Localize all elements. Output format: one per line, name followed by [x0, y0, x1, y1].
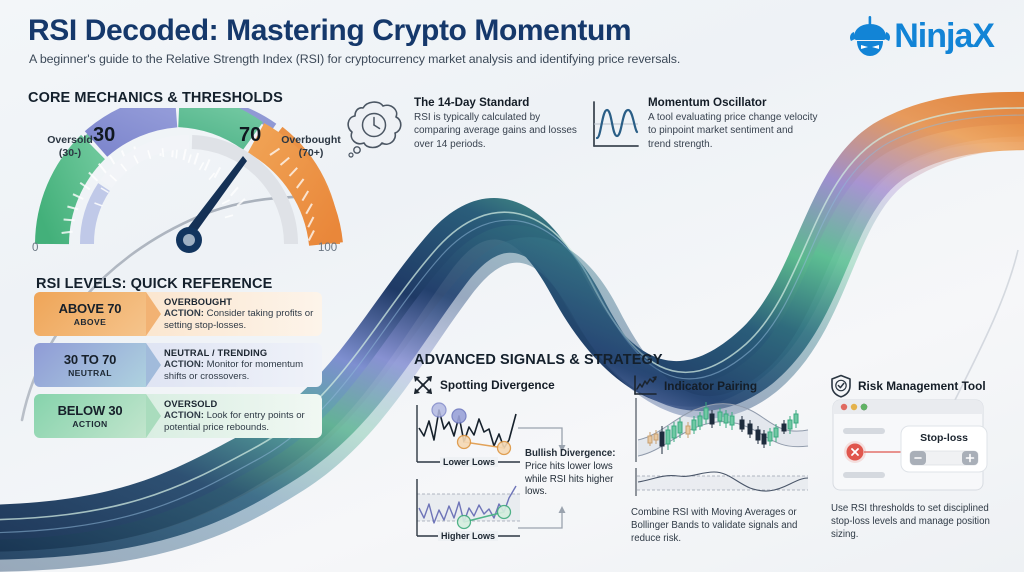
- feature-title-14-day: The 14-Day Standard: [414, 96, 579, 109]
- gauge-label-overbought: Overbought (70+): [268, 134, 354, 160]
- subtitle-risk-management: Risk Management Tool: [858, 379, 986, 393]
- subtitle-spotting-divergence: Spotting Divergence: [440, 378, 555, 392]
- subhead-spotting-divergence: Spotting Divergence: [412, 374, 612, 396]
- section-heading-levels: RSI LEVELS: QUICK REFERENCE: [36, 276, 272, 292]
- placeholder-bar-1: [843, 428, 885, 434]
- gauge-needle-hub-center: [183, 234, 195, 246]
- rsi-subpanel: [636, 468, 808, 496]
- gauge-inner-arc-blue: [87, 187, 104, 244]
- feature-desc-oscillator: A tool evaluating price change velocity …: [648, 111, 818, 151]
- oscillator-wave-icon: [588, 98, 642, 154]
- section-heading-core: CORE MECHANICS & THRESHOLDS: [28, 90, 283, 106]
- panel-spotting-divergence: Spotting Divergence: [412, 374, 612, 396]
- label-higher-lows: Higher Lows: [438, 531, 498, 541]
- rsi-gauge: Oversold (30-) Overbought (70+) 30 70 0 …: [24, 108, 354, 258]
- gauge-scale-max: 100: [318, 242, 337, 254]
- level-action-overbought: ACTION: Consider taking profits or setti…: [164, 308, 314, 333]
- caption-risk-management: Use RSI thresholds to set disciplined st…: [831, 502, 1009, 541]
- window-close-dot[interactable]: [841, 404, 847, 410]
- level-range-overbought: ABOVE 70: [59, 301, 122, 316]
- ninja-helmet-icon: [848, 14, 892, 58]
- trend-chart-icon: [632, 374, 658, 398]
- placeholder-bar-2: [843, 472, 885, 478]
- level-action-oversold: ACTION: Look for entry points or potenti…: [164, 410, 314, 435]
- section-heading-advanced: ADVANCED SIGNALS & STRATEGY: [414, 352, 663, 368]
- marker-low-2: [498, 442, 511, 455]
- page-subtitle: A beginner's guide to the Relative Stren…: [29, 52, 680, 66]
- subhead-indicator-pairing: Indicator Pairing: [632, 374, 817, 398]
- gauge-scale-min: 0: [32, 242, 38, 254]
- bullish-divergence-title: Bullish Divergence:: [525, 448, 615, 459]
- level-row-neutral: NEUTRAL / TRENDING ACTION: Monitor for m…: [34, 343, 322, 387]
- thought-cloud-clock-icon: [345, 98, 405, 160]
- level-tag-overbought: ABOVE 70 ABOVE: [34, 292, 146, 336]
- level-body-oversold: OVERSOLD ACTION: Look for entry points o…: [142, 394, 322, 438]
- level-status-neutral: NEUTRAL / TRENDING: [164, 348, 314, 358]
- page-title: RSI Decoded: Mastering Crypto Momentum: [28, 14, 631, 48]
- diverging-arrows-icon: [412, 374, 434, 396]
- window-maximize-dot[interactable]: [861, 404, 867, 410]
- level-tag-oversold: BELOW 30 ACTION: [34, 394, 146, 438]
- chart-candlestick-bollinger: [632, 396, 810, 500]
- marker-higher-low-1: [458, 516, 471, 529]
- feature-title-oscillator: Momentum Oscillator: [648, 96, 818, 109]
- feature-14-day-standard: The 14-Day Standard RSI is typically cal…: [414, 96, 579, 151]
- level-row-oversold: OVERSOLD ACTION: Look for entry points o…: [34, 394, 322, 438]
- bullish-divergence-note: Bullish Divergence: Price hits lower low…: [525, 448, 617, 499]
- marker-swing-high-2: [452, 409, 466, 423]
- shield-check-icon: [830, 374, 852, 398]
- marker-swing-high-1: [432, 403, 446, 417]
- level-range-oversold: BELOW 30: [58, 403, 123, 418]
- level-body-overbought: OVERBOUGHT ACTION: Consider taking profi…: [142, 292, 322, 336]
- level-body-neutral: NEUTRAL / TRENDING ACTION: Monitor for m…: [142, 343, 322, 387]
- brand-logo-text: NinjaX: [894, 17, 994, 56]
- feature-desc-14-day: RSI is typically calculated by comparing…: [414, 111, 579, 151]
- gauge-threshold-low: 30: [93, 124, 115, 147]
- gauge-label-oversold-range: (30-): [59, 147, 81, 159]
- level-action-neutral: ACTION: Monitor for momentum shifts or c…: [164, 359, 314, 384]
- marker-higher-low-2: [498, 506, 511, 519]
- rsi-gauge-svg: [24, 108, 354, 258]
- level-status-overbought: OVERBOUGHT: [164, 297, 314, 307]
- level-tag-neutral: 30 TO 70 NEUTRAL: [34, 343, 146, 387]
- subhead-risk-management: Risk Management Tool: [830, 374, 1010, 398]
- level-tagword-neutral: NEUTRAL: [68, 368, 112, 378]
- gauge-label-overbought-text: Overbought: [281, 134, 341, 146]
- gauge-label-oversold-text: Oversold: [47, 134, 93, 146]
- brand-logo[interactable]: NinjaX: [848, 14, 994, 58]
- level-tagword-oversold: ACTION: [72, 419, 107, 429]
- level-action-label-neutral: ACTION:: [164, 359, 204, 370]
- label-lower-lows: Lower Lows: [440, 457, 498, 467]
- gauge-inner-arc-light: [106, 142, 189, 184]
- stop-loss-label: Stop-loss: [901, 432, 987, 444]
- marker-low-1: [458, 436, 471, 449]
- feature-momentum-oscillator: Momentum Oscillator A tool evaluating pr…: [648, 96, 818, 151]
- level-status-oversold: OVERSOLD: [164, 399, 314, 409]
- caption-indicator-pairing: Combine RSI with Moving Averages or Boll…: [631, 506, 811, 545]
- level-action-label-overbought: ACTION:: [164, 308, 204, 319]
- level-row-overbought: OVERBOUGHT ACTION: Consider taking profi…: [34, 292, 322, 336]
- level-range-neutral: 30 TO 70: [64, 352, 116, 367]
- level-tagword-overbought: ABOVE: [74, 317, 107, 327]
- bullish-divergence-body: Price hits lower lows while RSI hits hig…: [525, 461, 613, 498]
- window-minimize-dot[interactable]: [851, 404, 857, 410]
- level-action-label-oversold: ACTION:: [164, 410, 204, 421]
- panel-indicator-pairing: Indicator Pairing: [632, 374, 817, 398]
- risk-widget-mockup: [831, 398, 991, 498]
- panel-risk-management: Risk Management Tool: [830, 374, 1010, 398]
- subtitle-indicator-pairing: Indicator Pairing: [664, 379, 757, 393]
- gauge-threshold-high: 70: [239, 124, 261, 147]
- gauge-label-overbought-range: (70+): [299, 147, 324, 159]
- rsi-levels-list: OVERBOUGHT ACTION: Consider taking profi…: [34, 292, 322, 445]
